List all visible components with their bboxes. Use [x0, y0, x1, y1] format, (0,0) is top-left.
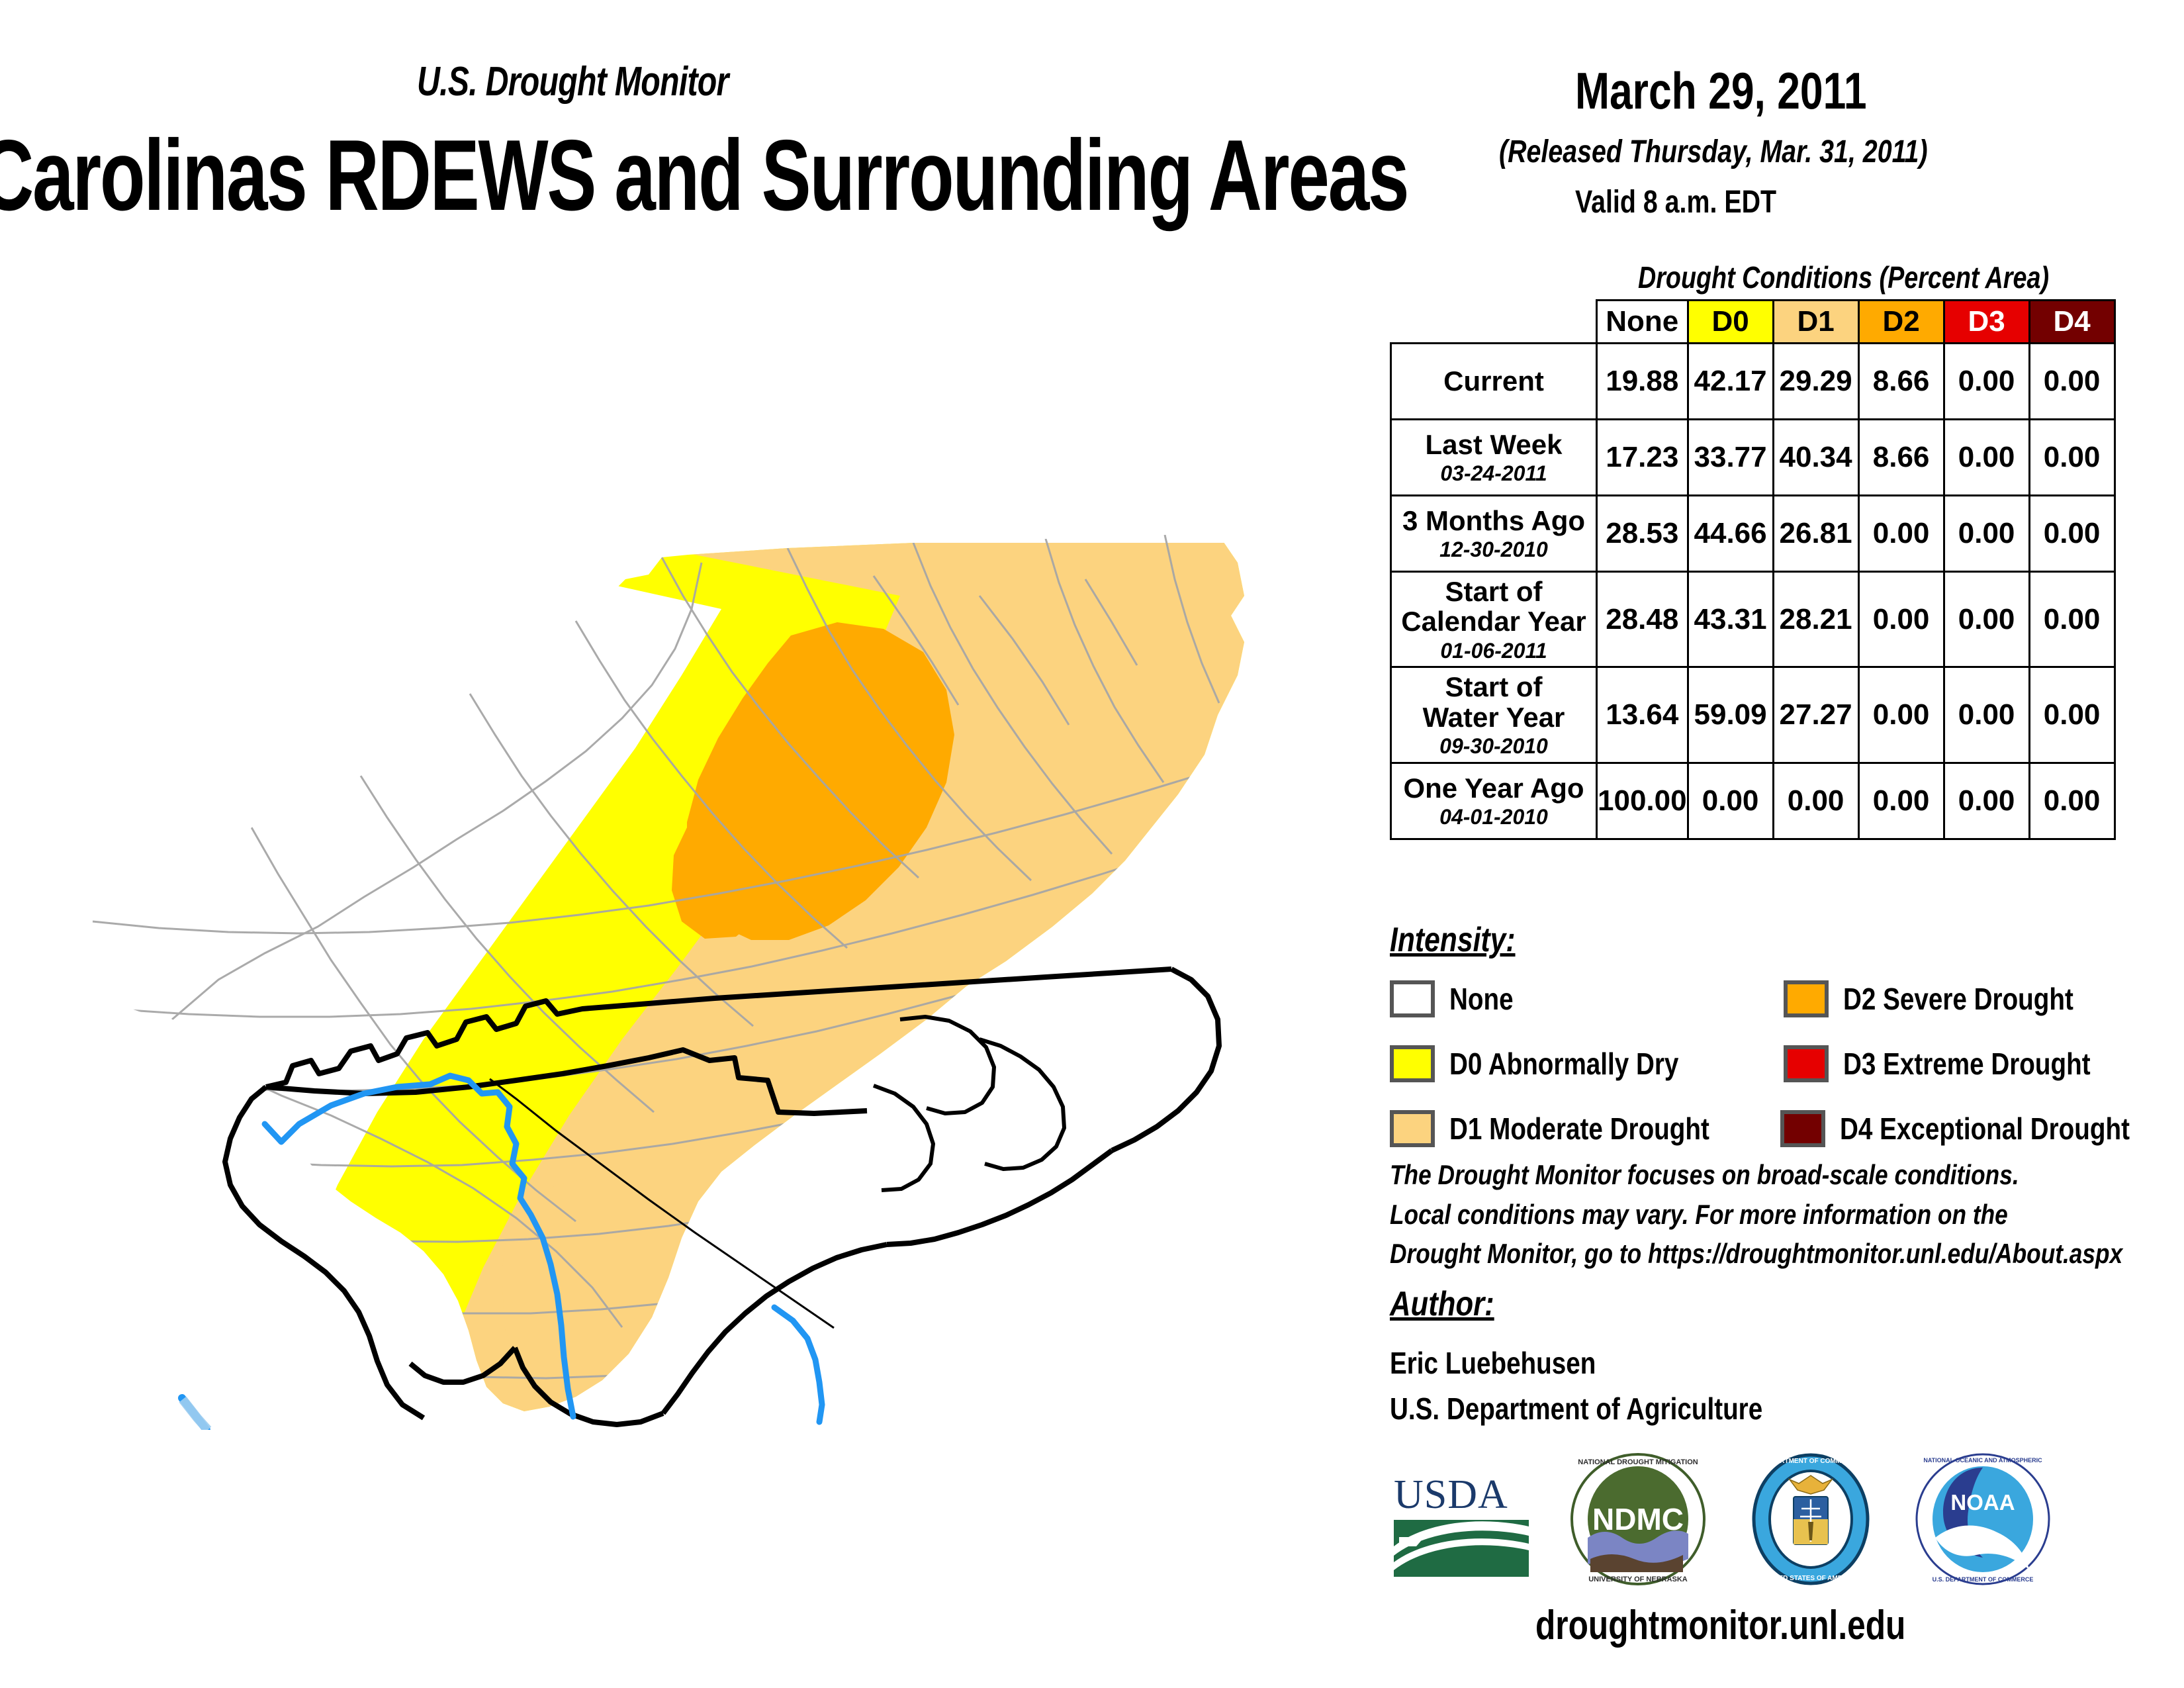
row-label-text: One Year Ago — [1403, 773, 1584, 804]
cell-d0: 0.00 — [1688, 763, 1773, 839]
cell-d3: 0.00 — [1944, 572, 2029, 667]
agency-logos: USDA NDMC NATIONAL DROUGHT MITIGATION UN… — [1390, 1443, 2177, 1595]
intensity-legend: None D2 Severe Drought D0 Abnormally Dry… — [1390, 973, 2177, 1168]
cell-d2: 0.00 — [1858, 763, 1944, 839]
cell-none: 19.88 — [1597, 344, 1688, 420]
col-header-d4: D4 — [2029, 301, 2115, 344]
table-row: Last Week 03-24-2011 17.23 33.77 40.34 8… — [1391, 420, 2115, 496]
release-date: (Released Thursday, Mar. 31, 2011) — [1499, 134, 1928, 170]
col-header-none: None — [1597, 301, 1688, 344]
swatch-none-icon — [1390, 980, 1435, 1017]
cell-d3: 0.00 — [1944, 496, 2029, 572]
cell-d2: 0.00 — [1858, 667, 1944, 763]
row-label-date: 01-06-2011 — [1394, 639, 1593, 663]
cell-d4: 0.00 — [2029, 496, 2115, 572]
page-title: Carolinas RDEWS and Surrounding Areas — [0, 118, 1408, 234]
row-label-date: 03-24-2011 — [1394, 462, 1593, 485]
cell-d1: 26.81 — [1773, 496, 1858, 572]
usda-wordmark: USDA — [1394, 1472, 1508, 1517]
row-label-text: Last Week — [1426, 429, 1563, 460]
row-label-current: Current — [1391, 344, 1597, 420]
cell-d4: 0.00 — [2029, 572, 2115, 667]
cell-d1: 27.27 — [1773, 667, 1858, 763]
website-url[interactable]: droughtmonitor.unl.edu — [1535, 1602, 1905, 1649]
cell-d0: 44.66 — [1688, 496, 1773, 572]
cell-d0: 42.17 — [1688, 344, 1773, 420]
intensity-heading: Intensity: — [1390, 920, 1516, 960]
cell-d4: 0.00 — [2029, 763, 2115, 839]
author-name: Eric Luebehusen — [1390, 1340, 1762, 1386]
legend-label: None — [1449, 981, 1514, 1017]
cell-d3: 0.00 — [1944, 420, 2029, 496]
legend-row: D0 Abnormally Dry D3 Extreme Drought — [1390, 1038, 2177, 1090]
table-row: One Year Ago 04-01-2010 100.00 0.00 0.00… — [1391, 763, 2115, 839]
cell-d2: 0.00 — [1858, 496, 1944, 572]
table-header-row: None D0 D1 D2 D3 D4 — [1391, 301, 2115, 344]
cell-d3: 0.00 — [1944, 667, 2029, 763]
table-caption: Drought Conditions (Percent Area) — [1638, 259, 2049, 295]
col-header-d0: D0 — [1688, 301, 1773, 344]
row-label-last-week: Last Week 03-24-2011 — [1391, 420, 1597, 496]
ndmc-ring-bottom: UNIVERSITY OF NEBRASKA — [1588, 1575, 1688, 1583]
table-row: Start of Calendar Year 01-06-2011 28.48 … — [1391, 572, 2115, 667]
legend-label: D3 Extreme Drought — [1843, 1046, 2091, 1082]
legend-item-none: None — [1390, 980, 1784, 1017]
legend-item-d4: D4 Exceptional Drought — [1780, 1110, 2177, 1147]
legend-label: D1 Moderate Drought — [1449, 1111, 1709, 1147]
map-svg — [53, 516, 1350, 1430]
table-row: Current 19.88 42.17 29.29 8.66 0.00 0.00 — [1391, 344, 2115, 420]
row-label-date: 09-30-2010 — [1394, 735, 1593, 758]
noaa-logo: NOAA NATIONAL OCEANIC AND ATMOSPHERIC U.… — [1915, 1453, 2051, 1585]
row-label-text: Current — [1443, 365, 1544, 397]
doc-logo: DEPARTMENT OF COMMERCE UNITED STATES OF … — [1745, 1453, 1877, 1585]
row-label-start-of-calendar-year: Start of Calendar Year 01-06-2011 — [1391, 572, 1597, 667]
cell-d0: 33.77 — [1688, 420, 1773, 496]
doc-ring-top: DEPARTMENT OF COMMERCE — [1762, 1458, 1860, 1465]
row-label-start-of-water-year: Start of Water Year 09-30-2010 — [1391, 667, 1597, 763]
ndmc-ring-top: NATIONAL DROUGHT MITIGATION — [1578, 1458, 1698, 1466]
cell-d4: 0.00 — [2029, 420, 2115, 496]
legend-item-d0: D0 Abnormally Dry — [1390, 1045, 1784, 1082]
usda-logo: USDA — [1390, 1456, 1532, 1582]
header-spacer — [1391, 301, 1597, 344]
cell-none: 100.00 — [1597, 763, 1688, 839]
cell-d2: 8.66 — [1858, 420, 1944, 496]
row-label-text: Start of Water Year — [1423, 671, 1565, 732]
legend-row: None D2 Severe Drought — [1390, 973, 2177, 1025]
page-subtitle: U.S. Drought Monitor — [417, 58, 729, 105]
legend-label: D2 Severe Drought — [1843, 981, 2073, 1017]
cell-d4: 0.00 — [2029, 667, 2115, 763]
cell-d2: 0.00 — [1858, 572, 1944, 667]
swatch-d1-icon — [1390, 1110, 1435, 1147]
noaa-ring-bottom: U.S. DEPARTMENT OF COMMERCE — [1933, 1576, 2034, 1583]
disclaimer-line-3: Drought Monitor, go to https://droughtmo… — [1390, 1234, 2122, 1274]
cell-d0: 43.31 — [1688, 572, 1773, 667]
valid-date: March 29, 2011 — [1575, 61, 1867, 121]
cell-none: 17.23 — [1597, 420, 1688, 496]
legend-label: D0 Abnormally Dry — [1449, 1046, 1678, 1082]
swatch-d4-icon — [1780, 1110, 1825, 1147]
col-header-d2: D2 — [1858, 301, 1944, 344]
cell-none: 28.48 — [1597, 572, 1688, 667]
disclaimer: The Drought Monitor focuses on broad-sca… — [1390, 1155, 2122, 1274]
author-heading: Author: — [1390, 1284, 1494, 1324]
swatch-d2-icon — [1784, 980, 1829, 1017]
author-block: Eric Luebehusen U.S. Department of Agric… — [1390, 1340, 1762, 1432]
cell-d4: 0.00 — [2029, 344, 2115, 420]
cell-d3: 0.00 — [1944, 344, 2029, 420]
cell-d3: 0.00 — [1944, 763, 2029, 839]
cell-none: 13.64 — [1597, 667, 1688, 763]
table-row: 3 Months Ago 12-30-2010 28.53 44.66 26.8… — [1391, 496, 2115, 572]
table-row: Start of Water Year 09-30-2010 13.64 59.… — [1391, 667, 2115, 763]
cell-d1: 28.21 — [1773, 572, 1858, 667]
doc-ring-bottom: UNITED STATES OF AMERICA — [1763, 1575, 1858, 1582]
disclaimer-line-1: The Drought Monitor focuses on broad-sca… — [1390, 1155, 2122, 1195]
noaa-ring-top: NATIONAL OCEANIC AND ATMOSPHERIC — [1923, 1457, 2042, 1464]
legend-item-d3: D3 Extreme Drought — [1784, 1045, 2177, 1082]
drought-map[interactable] — [53, 516, 1350, 1430]
cell-d1: 40.34 — [1773, 420, 1858, 496]
valid-time: Valid 8 a.m. EDT — [1575, 184, 1776, 220]
cell-d0: 59.09 — [1688, 667, 1773, 763]
legend-item-d1: D1 Moderate Drought — [1390, 1110, 1780, 1147]
row-label-date: 04-01-2010 — [1394, 806, 1593, 829]
cell-none: 28.53 — [1597, 496, 1688, 572]
swatch-d0-icon — [1390, 1045, 1435, 1082]
row-label-3-months-ago: 3 Months Ago 12-30-2010 — [1391, 496, 1597, 572]
cell-d1: 0.00 — [1773, 763, 1858, 839]
disclaimer-line-2: Local conditions may vary. For more info… — [1390, 1195, 2122, 1235]
swatch-d3-icon — [1784, 1045, 1829, 1082]
row-label-text: Start of Calendar Year — [1401, 576, 1586, 637]
row-label-one-year-ago: One Year Ago 04-01-2010 — [1391, 763, 1597, 839]
col-header-d1: D1 — [1773, 301, 1858, 344]
row-label-text: 3 Months Ago — [1402, 505, 1585, 536]
ndmc-logo: NDMC NATIONAL DROUGHT MITIGATION UNIVERS… — [1570, 1453, 1706, 1585]
cell-d1: 29.29 — [1773, 344, 1858, 420]
legend-label: D4 Exceptional Drought — [1840, 1111, 2130, 1147]
legend-item-d2: D2 Severe Drought — [1784, 980, 2177, 1017]
drought-conditions-table: None D0 D1 D2 D3 D4 Current 19.88 42.17 … — [1390, 299, 2116, 840]
noaa-wordmark: NOAA — [1950, 1490, 2015, 1515]
cell-d2: 8.66 — [1858, 344, 1944, 420]
col-header-d3: D3 — [1944, 301, 2029, 344]
author-org: U.S. Department of Agriculture — [1390, 1386, 1762, 1432]
ndmc-wordmark: NDMC — [1592, 1502, 1684, 1536]
row-label-date: 12-30-2010 — [1394, 538, 1593, 561]
legend-row: D1 Moderate Drought D4 Exceptional Droug… — [1390, 1103, 2177, 1154]
